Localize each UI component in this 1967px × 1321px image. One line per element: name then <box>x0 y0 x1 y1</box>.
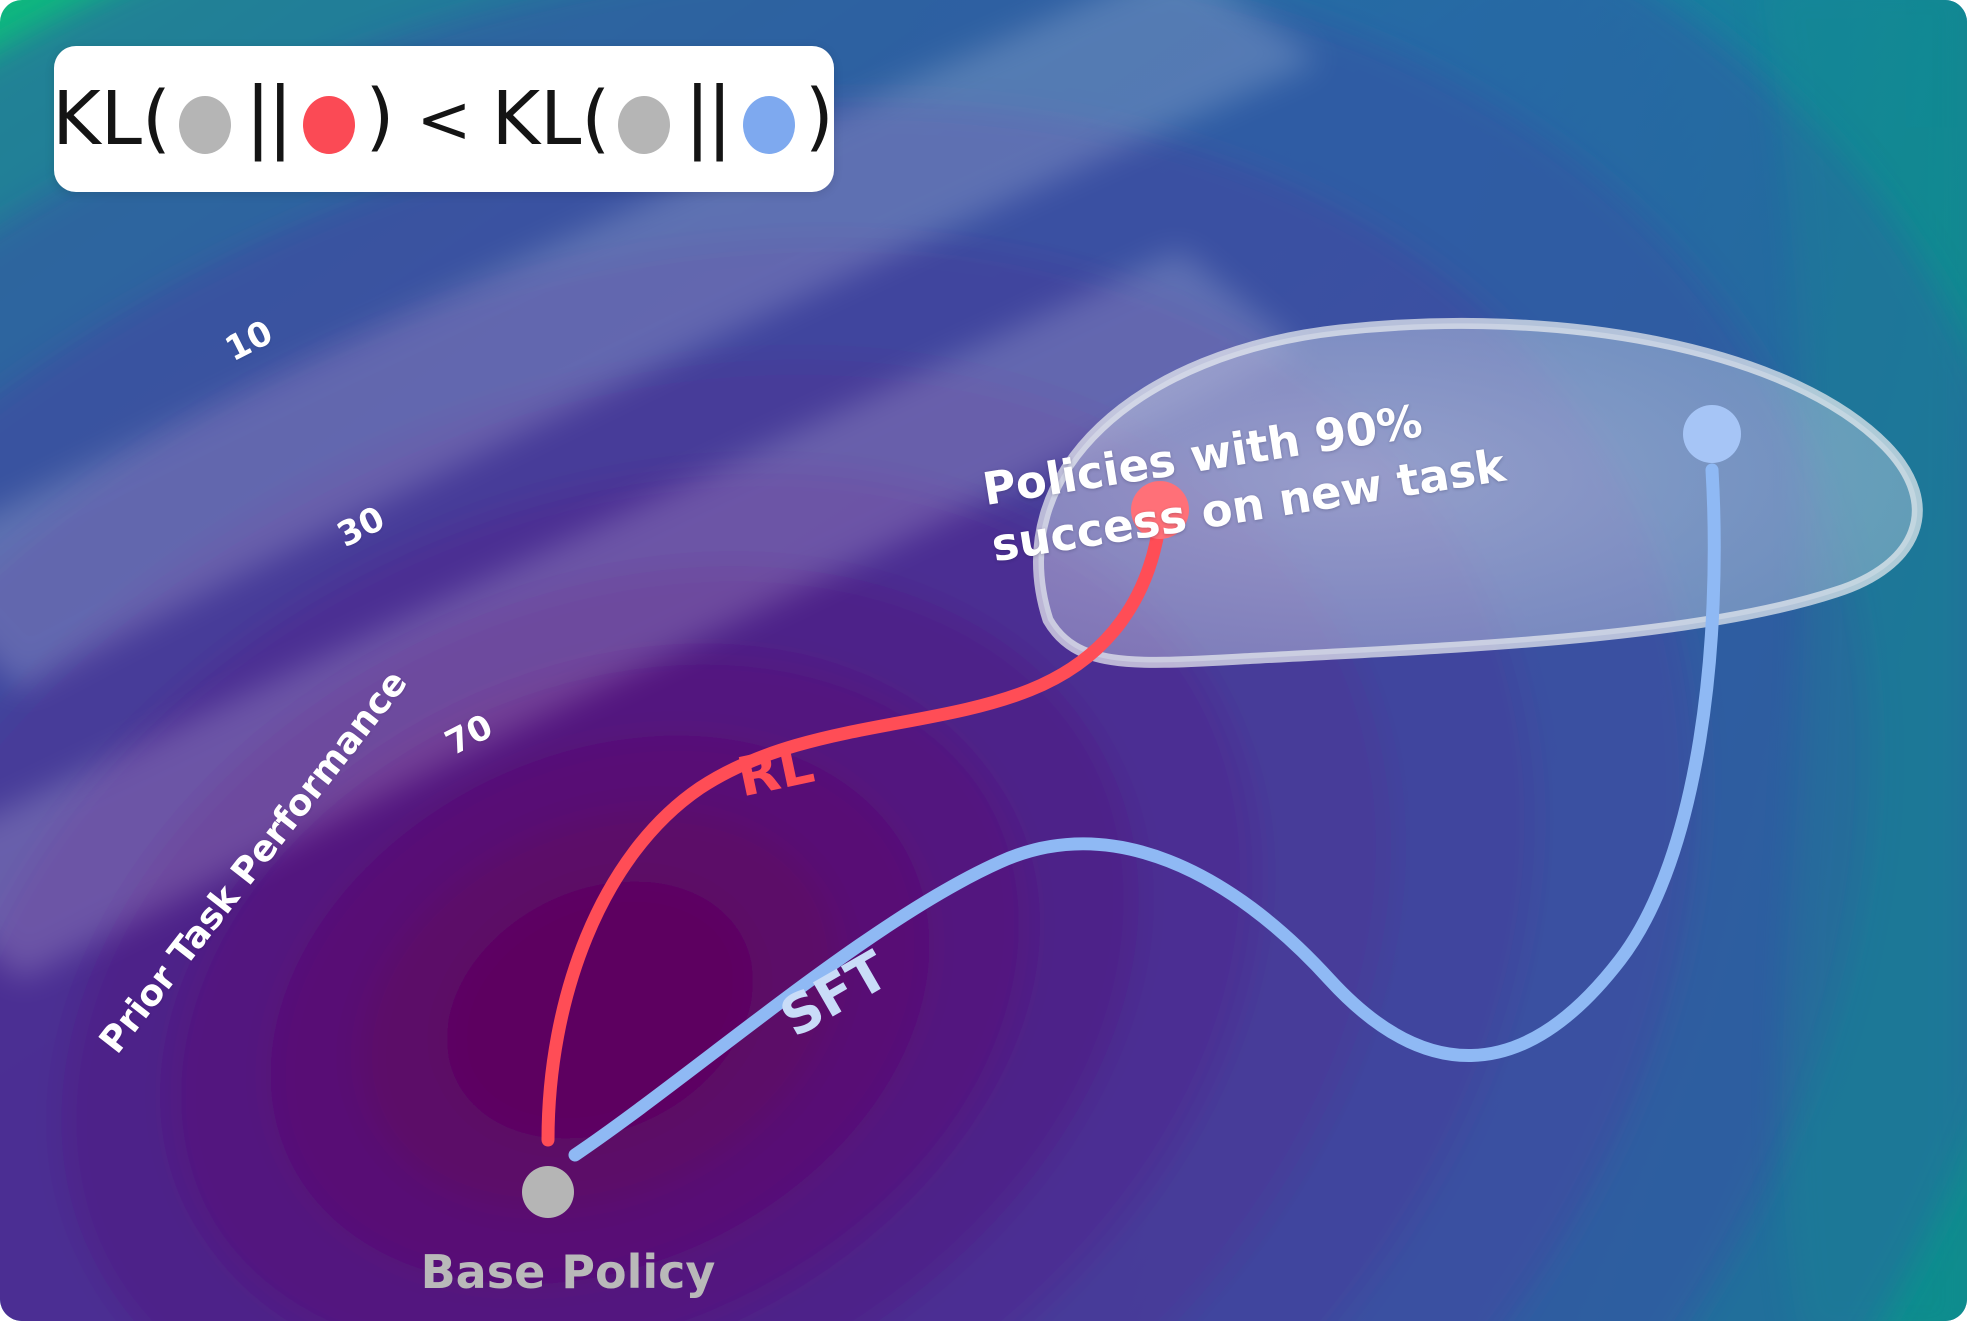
diagram-canvas: KL( || ) < KL( || ) 10 30 70 Prior Task … <box>0 0 1967 1321</box>
rl-glyph <box>303 96 355 154</box>
kl-right-text: KL( <box>492 76 611 162</box>
kl-inequality-card: KL( || ) < KL( || ) <box>54 46 834 192</box>
kl-comparator: < <box>396 81 491 158</box>
kl-bars-left: || <box>239 72 296 162</box>
kl-left-text: KL( <box>52 76 171 162</box>
kl-close-right: ) <box>803 74 836 160</box>
kl-bars-right: || <box>678 72 735 162</box>
base-policy-dot[interactable] <box>522 1166 574 1218</box>
base-policy-glyph-right <box>618 96 670 154</box>
base-policy-label: Base Policy <box>421 1245 716 1299</box>
sft-endpoint-dot[interactable] <box>1683 405 1741 463</box>
kl-inequality-row: KL( || ) < KL( || ) <box>52 74 835 164</box>
base-policy-glyph-left <box>179 96 231 154</box>
kl-close-left: ) <box>363 74 396 160</box>
sft-glyph <box>743 96 795 154</box>
